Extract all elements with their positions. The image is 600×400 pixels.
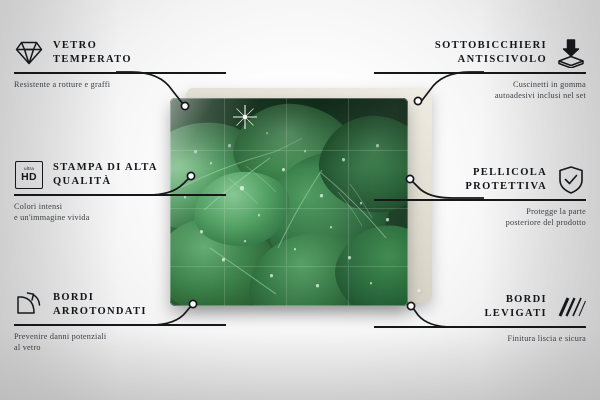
feature-divider xyxy=(14,324,226,326)
feature-subtitle: Resistente a rotture e graffi xyxy=(14,79,226,90)
feature-subtitle: Prevenire danni potenziali al vetro xyxy=(14,331,226,353)
shield-check-icon xyxy=(556,165,586,195)
feature-title: SOTTOBICCHIERI ANTISCIVOLO xyxy=(435,39,547,67)
hd-badge-main-label: HD xyxy=(21,172,37,183)
feature-subtitle: Protegge la parte posteriore del prodott… xyxy=(374,206,586,228)
infographic-canvas: VETRO TEMPERATO Resistente a rotture e g… xyxy=(0,0,600,400)
rounded-corner-icon xyxy=(14,290,44,320)
feature-stampa-di-alta-qualita: ultra HD STAMPA DI ALTA QUALITÀ Colori i… xyxy=(14,160,226,223)
feature-divider xyxy=(374,326,586,328)
feature-subtitle: Finitura liscia e sicura xyxy=(374,333,586,344)
feature-subtitle: Cuscinetti in gomma autoadesivi inclusi … xyxy=(374,79,586,101)
diamond-gem-icon xyxy=(14,38,44,68)
feature-title: BORDI ARROTONDATI xyxy=(53,291,147,319)
feature-subtitle: Colori intensi e un'immagine vivida xyxy=(14,201,226,223)
feature-pellicola-protettiva: PELLICOLA PROTETTIVA Protegge la parte p… xyxy=(374,165,586,228)
ultra-hd-badge-icon: ultra HD xyxy=(14,160,44,190)
polished-edge-hatch-icon xyxy=(556,292,586,322)
feature-divider xyxy=(374,199,586,201)
anti-slip-pad-icon xyxy=(556,38,586,68)
feature-vetro-temperato: VETRO TEMPERATO Resistente a rotture e g… xyxy=(14,38,226,90)
feature-divider xyxy=(14,72,226,74)
feature-divider xyxy=(374,72,586,74)
feature-title: STAMPA DI ALTA QUALITÀ xyxy=(53,161,158,189)
feature-divider xyxy=(14,194,226,196)
feature-bordi-arrotondati: BORDI ARROTONDATI Prevenire danni potenz… xyxy=(14,290,226,353)
feature-sottobicchieri-antiscivolo: SOTTOBICCHIERI ANTISCIVOLO Cuscinetti in… xyxy=(374,38,586,101)
feature-title: PELLICOLA PROTETTIVA xyxy=(465,166,547,194)
feature-title: VETRO TEMPERATO xyxy=(53,39,132,67)
feature-title: BORDI LEVIGATI xyxy=(484,293,547,321)
feature-bordi-levigati: BORDI LEVIGATI Finitura liscia e sicura xyxy=(374,292,586,344)
